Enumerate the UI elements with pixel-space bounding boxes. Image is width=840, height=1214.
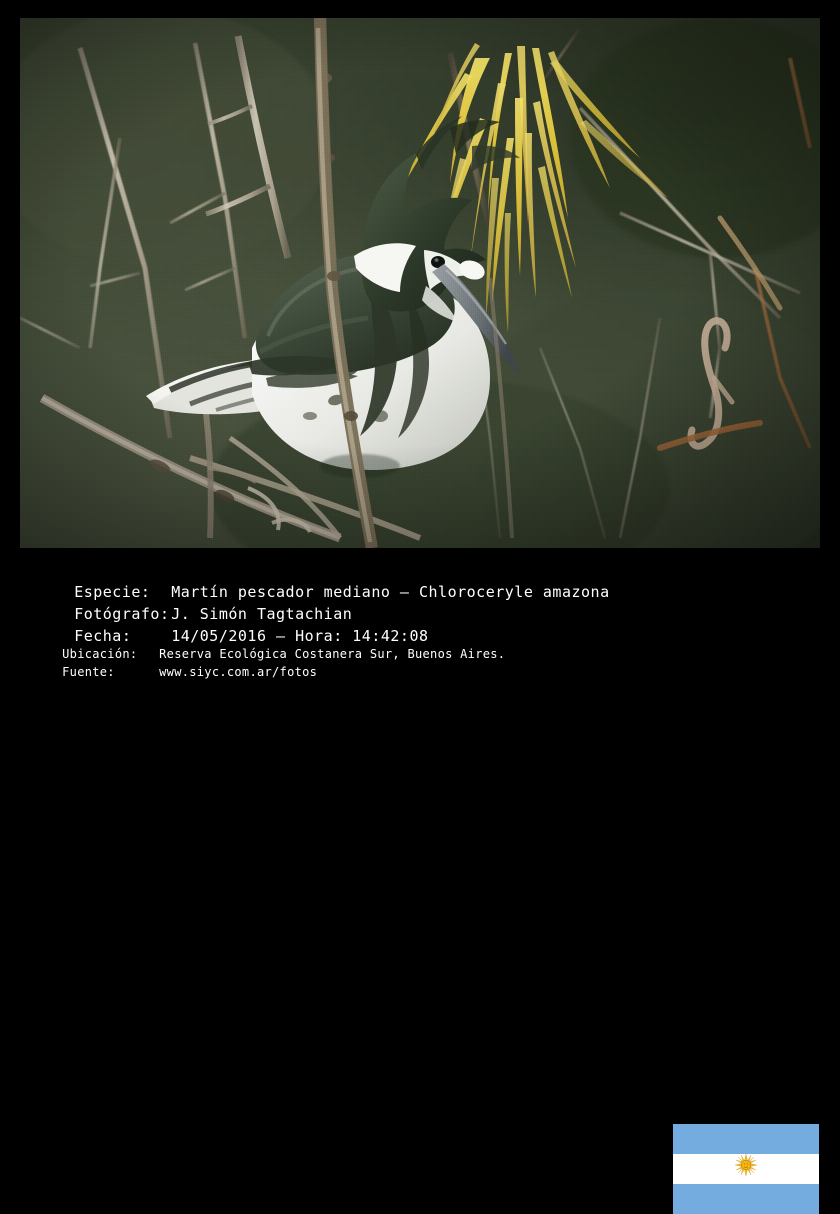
caption-row-fuente: Fuente:www.siyc.com.ar/fotos	[17, 651, 317, 693]
argentina-flag	[673, 1124, 819, 1214]
photo-card: Especie:Martín pescador mediano — Chloro…	[0, 0, 840, 669]
caption-label-fuente: Fuente:	[62, 665, 159, 679]
flag-stripe-top	[673, 1124, 819, 1154]
bird-photograph	[20, 18, 820, 548]
flag-stripe-bottom	[673, 1184, 819, 1214]
caption-value-fuente: www.siyc.com.ar/fotos	[159, 665, 317, 679]
caption-block: Especie:Martín pescador mediano — Chloro…	[0, 556, 840, 669]
sun-of-may-icon	[735, 1154, 757, 1176]
photo-vignette	[20, 18, 820, 548]
